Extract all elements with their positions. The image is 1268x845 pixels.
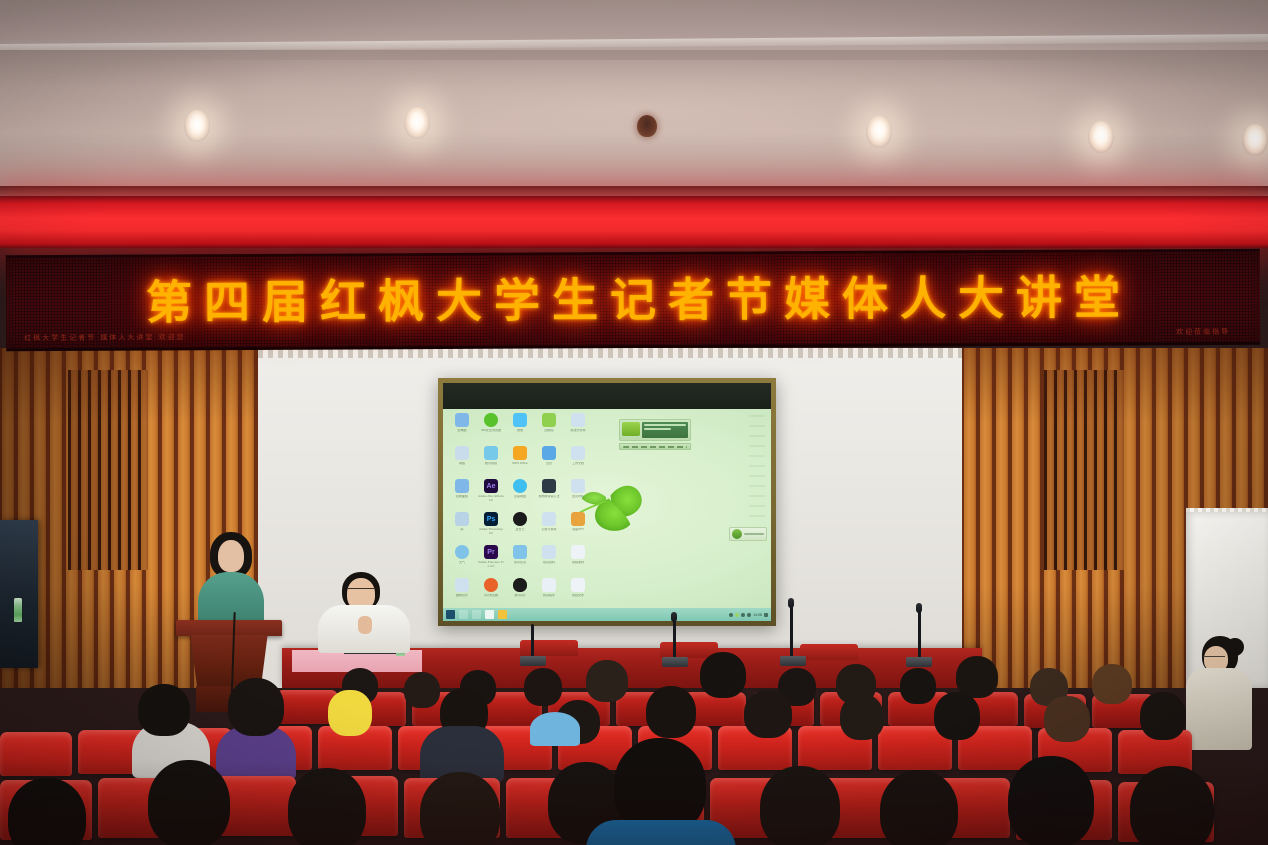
audience-head [404, 672, 440, 708]
screen-dark-band [443, 383, 771, 409]
start-button-icon[interactable] [446, 610, 455, 619]
desktop-icon[interactable]: QQ浏览器 [477, 576, 505, 609]
desktop-icon[interactable]: 搜狗拼音输入法 [535, 477, 563, 510]
desktop-icon-grid[interactable]: 此电脑 360安全浏览器 微信 回收站 新建文件夹 网络 腾讯视频 WPS Of… [448, 411, 592, 621]
desktop-icon-label: WPS Office [507, 462, 533, 473]
desktop-icon-label: QQ浏览器 [478, 594, 504, 605]
red-cove-light-strip [0, 196, 1268, 248]
desktop-icon[interactable]: 会议材料 [564, 477, 592, 510]
desktop-icon[interactable]: 微信 [506, 411, 534, 444]
app-glyph [571, 545, 585, 559]
notification-body-line [644, 428, 671, 430]
desktop-icon[interactable]: 新建文件夹 [564, 411, 592, 444]
seated-speaker [318, 572, 410, 650]
desktop-icon-label: Adobe After Effects CC [478, 495, 504, 506]
desktop-icon[interactable]: 爱奇艺 [506, 510, 534, 543]
tray-security-icon[interactable] [735, 613, 739, 617]
desktop-icon[interactable]: 腾讯视频 [477, 444, 505, 477]
app-glyph [455, 479, 469, 493]
app-glyph [513, 479, 527, 493]
ceiling-downlight-icon [184, 110, 210, 142]
desktop-icon-label: 360安全浏览器 [478, 429, 504, 440]
foreground-shadow [0, 760, 1268, 845]
attendee-torso [1186, 668, 1252, 750]
audience-head [138, 684, 190, 736]
desktop-icon[interactable]: 360安全浏览器 [477, 411, 505, 444]
desktop-icon-label: 迅雷 [536, 462, 562, 473]
desktop-icon[interactable]: 工作文档 [564, 444, 592, 477]
desktop-right-column-shading [749, 415, 765, 525]
audience-head [328, 690, 372, 736]
desktop-icon[interactable]: WPS Office [506, 444, 534, 477]
notification-title-line [644, 424, 686, 426]
stage-chair [800, 644, 858, 660]
desktop-icon[interactable]: 讲座PPT [564, 510, 592, 543]
app-glyph [542, 545, 556, 559]
app-glyph [455, 545, 469, 559]
security-notification-popup[interactable] [619, 419, 691, 441]
desktop-icon-label: 天气 [449, 561, 475, 572]
desktop-icon-label: 会议材料 [565, 495, 591, 506]
led-banner-subtext-left: 红枫大学生记者节 媒体人大讲堂 欢迎您 [24, 332, 186, 343]
app-glyph [542, 578, 556, 592]
projection-screen: 此电脑 360安全浏览器 微信 回收站 新建文件夹 网络 腾讯视频 WPS Of… [438, 378, 776, 626]
windows-taskbar[interactable]: 14:08 [443, 608, 771, 621]
gooseneck-microphone [918, 610, 921, 658]
desktop-icon[interactable]: 天气 [448, 543, 476, 576]
contact-avatar [732, 529, 742, 539]
desktop-icon-label: 爱奇艺 [507, 528, 533, 539]
audience-head-foreground [530, 712, 580, 746]
app-glyph [484, 578, 498, 592]
desktop-icon[interactable]: 此电脑 [448, 411, 476, 444]
desktop-icon-label: 库 [449, 528, 475, 539]
desktop-icon-label: 工作文档 [565, 462, 591, 473]
notification-footer-bar[interactable] [619, 443, 691, 450]
app-glyph [513, 545, 527, 559]
photoshop-icon: Ps [484, 512, 498, 526]
gooseneck-microphone [673, 620, 676, 658]
desktop-icon-label: 视频素材 [565, 561, 591, 572]
audience-head [1044, 696, 1090, 742]
app-glyph [571, 578, 585, 592]
qq-penguin-icon [513, 578, 527, 592]
desktop-icon-label: 微信 [507, 429, 533, 440]
audience-head [700, 652, 746, 698]
app-glyph [513, 512, 527, 526]
desktop-icon-label: 新建文件夹 [565, 429, 591, 440]
led-banner: 第四届红枫大学生记者节媒体人大讲堂 红枫大学生记者节 媒体人大讲堂 欢迎您 欢迎… [6, 249, 1260, 352]
app-glyph [571, 479, 585, 493]
desktop-icon-label: 新闻稿件 [536, 594, 562, 605]
notification-body [642, 422, 688, 438]
desktop-icon-premiere[interactable]: PrAdobe Premiere Pro CC [477, 543, 505, 576]
microphone-head-icon [671, 612, 677, 622]
desktop-icon[interactable]: 百度网盘 [506, 477, 534, 510]
file-explorer-icon[interactable] [485, 610, 494, 619]
stage-chair [520, 640, 578, 656]
app-glyph [513, 446, 527, 460]
desktop-icon-label: 培训资料 [536, 561, 562, 572]
desktop-icon-label: 回收站 [536, 429, 562, 440]
gooseneck-microphone [531, 624, 534, 658]
taskbar-left-group[interactable] [446, 610, 507, 619]
microphone-base [906, 657, 932, 667]
desktop-icon[interactable]: 新闻稿件 [535, 576, 563, 609]
desktop-icon[interactable]: 暴风影音 [506, 543, 534, 576]
speaker-hand [358, 616, 372, 634]
desktop-icon[interactable]: 培训资料 [535, 543, 563, 576]
desktop-icon-photoshop[interactable]: PsAdobe Photoshop CC [477, 510, 505, 543]
desktop-icon-label: 酷狗音乐 [449, 594, 475, 605]
app-glyph [455, 413, 469, 427]
auditorium-scene: 第四届红枫大学生记者节媒体人大讲堂 红枫大学生记者节 媒体人大讲堂 欢迎您 欢迎… [0, 0, 1268, 845]
task-view-icon[interactable] [472, 610, 481, 619]
desktop-icon[interactable]: 网络 [448, 444, 476, 477]
microphone-head-icon [916, 603, 922, 613]
host-face [218, 540, 244, 572]
projection-screen-inner: 此电脑 360安全浏览器 微信 回收站 新建文件夹 网络 腾讯视频 WPS Of… [443, 383, 771, 621]
desktop-icon[interactable]: 控制面板 [448, 477, 476, 510]
desktop-icon-label: 搜狗拼音输入法 [536, 495, 562, 506]
desktop-icon[interactable]: 酷狗音乐 [448, 576, 476, 609]
app-glyph [484, 413, 498, 427]
av-equipment-monitor [0, 520, 38, 668]
desktop-icon-after-effects[interactable]: AeAdobe After Effects CC [477, 477, 505, 510]
tray-network-icon[interactable] [741, 613, 745, 617]
wall-trim-molding [258, 348, 962, 358]
app-glyph [571, 512, 585, 526]
audience-head [586, 660, 628, 702]
desktop-icon-label: 百度网盘 [507, 495, 533, 506]
audience-head [1092, 664, 1132, 704]
taskbar-clock-time[interactable]: 14:08 [753, 613, 762, 617]
desktop-icon[interactable]: 回收站 [535, 411, 563, 444]
after-effects-icon: Ae [484, 479, 498, 493]
led-banner-text: 第四届红枫大学生记者节媒体人大讲堂 [6, 274, 1260, 327]
ceiling-downlight-icon [1242, 124, 1268, 156]
led-banner-subtext-right: 欢迎莅临指导 [1176, 327, 1230, 337]
app-glyph [455, 578, 469, 592]
audience-head [744, 690, 792, 738]
desktop-icon-label: 视频文件 [565, 594, 591, 605]
desktop-icon-label: 暴风影音 [507, 561, 533, 572]
ceiling-vent-icon [637, 115, 657, 137]
podium-top-surface [176, 620, 282, 636]
audience-head [524, 668, 562, 706]
host-at-podium [196, 532, 266, 624]
attendee-glasses-icon [1203, 656, 1225, 660]
microphone-base [662, 657, 688, 667]
app-glyph [455, 512, 469, 526]
action-center-icon[interactable] [764, 613, 768, 617]
message-preview-line [744, 533, 764, 535]
premiere-pro-icon: Pr [484, 545, 498, 559]
desktop-icon[interactable]: 迅雷 [535, 444, 563, 477]
taskbar-system-tray[interactable]: 14:08 [729, 613, 768, 617]
desktop-icon-label: Adobe Premiere Pro CC [478, 561, 504, 572]
app-glyph [571, 446, 585, 460]
app-glyph [513, 413, 527, 427]
audience-head [840, 694, 884, 740]
desktop-icon-label: 腾讯视频 [478, 462, 504, 473]
app-glyph [542, 512, 556, 526]
audience-head [900, 668, 936, 704]
desktop-icon[interactable]: 视频素材 [564, 543, 592, 576]
desktop-icon[interactable]: 视频文件 [564, 576, 592, 609]
desktop-icon-label: 此电脑 [449, 429, 475, 440]
tray-arrow-icon[interactable] [729, 613, 733, 617]
attendee-hair-bun [1226, 638, 1244, 656]
desktop-icon-qq[interactable]: 腾讯QQ [506, 576, 534, 609]
desktop-icon[interactable]: 记者节素材 [535, 510, 563, 543]
desktop-icon-label: 网络 [449, 462, 475, 473]
water-bottle [14, 598, 22, 622]
desktop-icon-label: 控制面板 [449, 495, 475, 506]
shield-icon [622, 422, 640, 436]
microphone-base [780, 656, 806, 666]
app-glyph [542, 413, 556, 427]
microphone-head-icon [788, 598, 794, 608]
gooseneck-microphone [790, 606, 793, 658]
ceiling-downlight-icon [866, 116, 892, 148]
app-glyph [571, 413, 585, 427]
standing-attendee-right [1186, 636, 1252, 748]
audience-head [646, 686, 696, 738]
wps-office-icon[interactable] [498, 610, 507, 619]
app-glyph [542, 479, 556, 493]
desktop-icon-label: 记者节素材 [536, 528, 562, 539]
audience-head [934, 692, 980, 740]
audience-head [228, 678, 284, 736]
search-icon[interactable] [459, 610, 468, 619]
tray-volume-icon[interactable] [747, 613, 751, 617]
chat-message-popup[interactable] [729, 527, 767, 541]
ceiling-downlight-icon [404, 107, 430, 139]
audience-head [1140, 692, 1186, 740]
ceiling-downlight-icon [1088, 121, 1114, 153]
desktop-icon-label: 讲座PPT [565, 528, 591, 539]
app-glyph [455, 446, 469, 460]
desktop-icon-label: Adobe Photoshop CC [478, 528, 504, 539]
speaker-glasses-icon [348, 588, 374, 592]
app-glyph [484, 446, 498, 460]
app-glyph [542, 446, 556, 460]
desktop-icon-label: 腾讯QQ [507, 594, 533, 605]
projected-windows-desktop[interactable]: 此电脑 360安全浏览器 微信 回收站 新建文件夹 网络 腾讯视频 WPS Of… [443, 409, 771, 621]
microphone-base [520, 656, 546, 666]
desktop-icon[interactable]: 库 [448, 510, 476, 543]
